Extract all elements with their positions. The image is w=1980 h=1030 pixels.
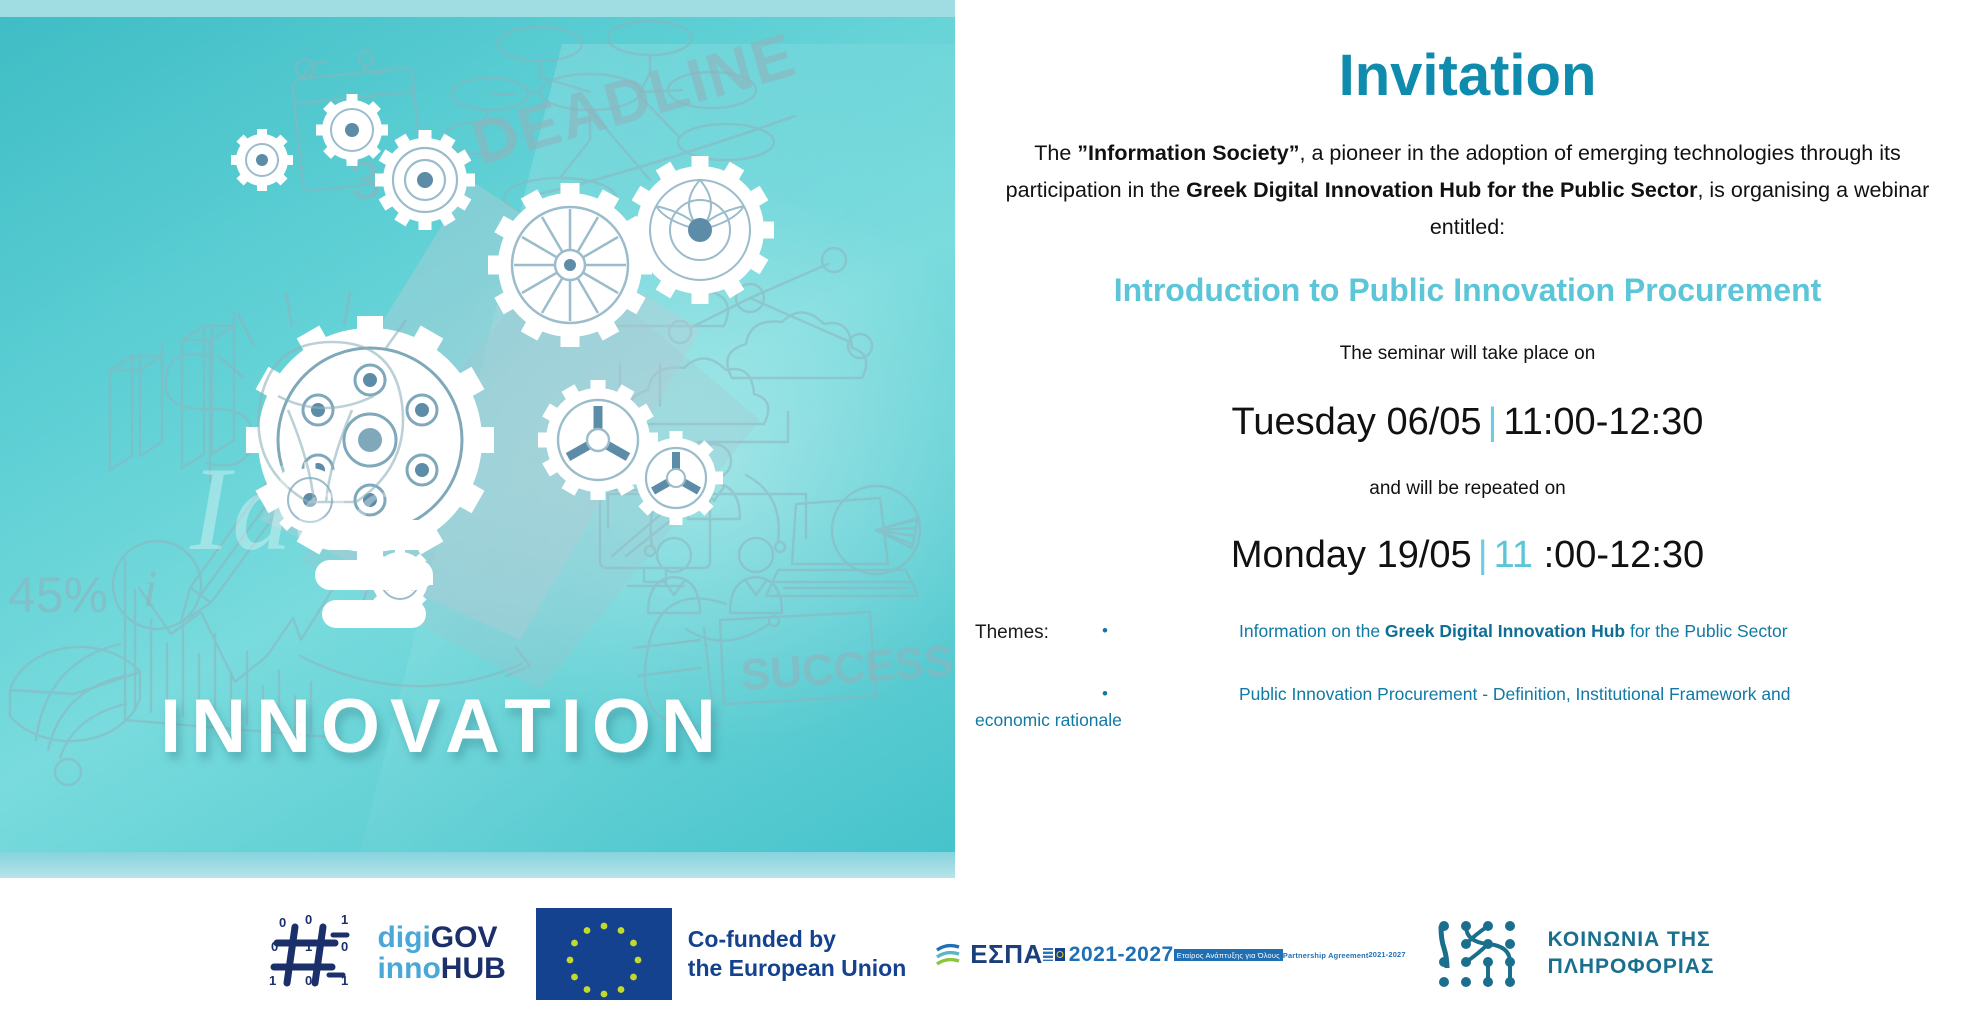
intro-paragraph: The ”Information Society”, a pioneer in … bbox=[977, 135, 1958, 246]
espa-flags-icon bbox=[1043, 948, 1065, 961]
digigov-innohub-logo: 001 010 101 digiGOV innoHUB bbox=[265, 911, 505, 997]
espa-subtitle-greek: Εταίρος Ανάπτυξης για Όλους bbox=[1174, 949, 1283, 961]
espa-wordmark: ΕΣΠΑ bbox=[970, 939, 1043, 970]
session-date-1: Tuesday 06/05|11:00-12:30 bbox=[955, 401, 1980, 444]
espa-subtitle-english: Partnership Agreement bbox=[1283, 951, 1369, 960]
footer-logo-strip: 001 010 101 digiGOV innoHUB bbox=[0, 878, 1980, 1030]
intro-hub-name: Greek Digital Innovation Hub for the Pub… bbox=[1186, 178, 1697, 202]
svg-text:0: 0 bbox=[279, 915, 286, 930]
invitation-slide: DEADLINE 31 45% i SUCCESS bbox=[0, 0, 1980, 1030]
session-1-time: 11:00-12:30 bbox=[1503, 401, 1703, 443]
theme-1-text: Information on the Greek Digital Innovat… bbox=[1239, 619, 1788, 644]
themes-label: Themes: bbox=[975, 619, 1097, 647]
information-society-logo: ΚΟΙΝΩΝΙΑ ΤΗΣ ΠΛΗΡΟΦΟΡΙΑΣ bbox=[1436, 914, 1715, 994]
theme-2-text: Public Innovation Procurement - Definiti… bbox=[1239, 682, 1791, 707]
ktp-line-2: ΠΛΗΡΟΦΟΡΙΑΣ bbox=[1548, 954, 1715, 981]
content-panel: Invitation The ”Information Society”, a … bbox=[955, 0, 1980, 878]
digigov-gov-text: GOV bbox=[431, 921, 498, 954]
theme-1-post: for the Public Sector bbox=[1625, 621, 1787, 641]
illustration-top-band bbox=[0, 0, 955, 17]
svg-text:0: 0 bbox=[341, 939, 348, 954]
svg-text:0: 0 bbox=[305, 973, 312, 988]
svg-text:0: 0 bbox=[271, 939, 278, 954]
bullet-icon: • bbox=[1097, 682, 1113, 707]
digigov-hash-icon: 001 010 101 bbox=[265, 911, 365, 997]
eu-wordmark: Co-funded by the European Union bbox=[688, 925, 907, 983]
espa-top-row: ΕΣΠΑ bbox=[936, 939, 1043, 970]
svg-text:1: 1 bbox=[341, 912, 348, 927]
digigov-digi-text: digi bbox=[377, 921, 430, 954]
theme-1-bold: Greek Digital Innovation Hub bbox=[1385, 621, 1625, 641]
session-2-time-rest: :00-12:30 bbox=[1533, 534, 1704, 576]
ktp-line-1: ΚΟΙΝΩΝΙΑ ΤΗΣ bbox=[1548, 927, 1715, 954]
svg-text:1: 1 bbox=[305, 939, 312, 954]
eu-flag-icon bbox=[536, 908, 672, 1000]
digigov-wordmark: digiGOV innoHUB bbox=[377, 923, 505, 984]
digigov-inno-text: inno bbox=[377, 952, 440, 985]
page-title: Invitation bbox=[955, 42, 1980, 109]
session-2-hour: 11 bbox=[1494, 534, 1533, 576]
session-2-separator: | bbox=[1472, 534, 1494, 576]
espa-waves-icon bbox=[936, 940, 966, 970]
eu-cofunded-logo: Co-funded by the European Union bbox=[536, 908, 907, 1000]
eu-line-1: Co-funded by bbox=[688, 925, 907, 954]
artwork-innovation-word: INNOVATION bbox=[160, 683, 726, 770]
theme-item-2: • Public Innovation Procurement - Defini… bbox=[975, 682, 1952, 707]
espa-logo: ΕΣΠΑ 2021-2027 Εταίρος Ανάπτυξης για Όλο… bbox=[936, 939, 1405, 970]
digigov-hub-text: HUB bbox=[441, 952, 506, 985]
session-1-separator: | bbox=[1482, 401, 1504, 443]
illustration-panel: DEADLINE 31 45% i SUCCESS bbox=[0, 0, 955, 878]
illustration-bottom-band bbox=[0, 852, 955, 878]
session-date-2: Monday 19/05|11 :00-12:30 bbox=[955, 534, 1980, 577]
information-society-wordmark: ΚΟΙΝΩΝΙΑ ΤΗΣ ΠΛΗΡΟΦΟΡΙΑΣ bbox=[1548, 927, 1715, 981]
dot-matrix-icon bbox=[1436, 914, 1532, 994]
session-1-day: Tuesday 06/05 bbox=[1232, 401, 1482, 443]
eu-line-2: the European Union bbox=[688, 954, 907, 983]
intro-org-name: ”Information Society” bbox=[1077, 141, 1299, 165]
svg-text:1: 1 bbox=[269, 973, 276, 988]
bullet-icon: • bbox=[1097, 619, 1113, 644]
espa-years: 2021-2027 bbox=[1069, 943, 1174, 967]
themes-block: Themes: • Information on the Greek Digit… bbox=[955, 619, 1980, 731]
espa-years-row: 2021-2027 bbox=[1043, 943, 1174, 967]
theme-item-1: Themes: • Information on the Greek Digit… bbox=[975, 619, 1952, 647]
session-2-day: Monday 19/05 bbox=[1231, 534, 1472, 576]
seminar-note-repeat: and will be repeated on bbox=[955, 478, 1980, 500]
theme-2-continuation: economic rationale bbox=[975, 710, 1952, 731]
svg-text:0: 0 bbox=[305, 912, 312, 927]
artwork-idea-word: Idea bbox=[190, 440, 411, 578]
espa-subtitle-years: 2021-2027 bbox=[1369, 950, 1406, 959]
intro-part1: The bbox=[1034, 141, 1077, 165]
seminar-note-first: The seminar will take place on bbox=[955, 343, 1980, 365]
theme-1-pre: Information on the bbox=[1239, 621, 1385, 641]
webinar-title: Introduction to Public Innovation Procur… bbox=[955, 272, 1980, 309]
